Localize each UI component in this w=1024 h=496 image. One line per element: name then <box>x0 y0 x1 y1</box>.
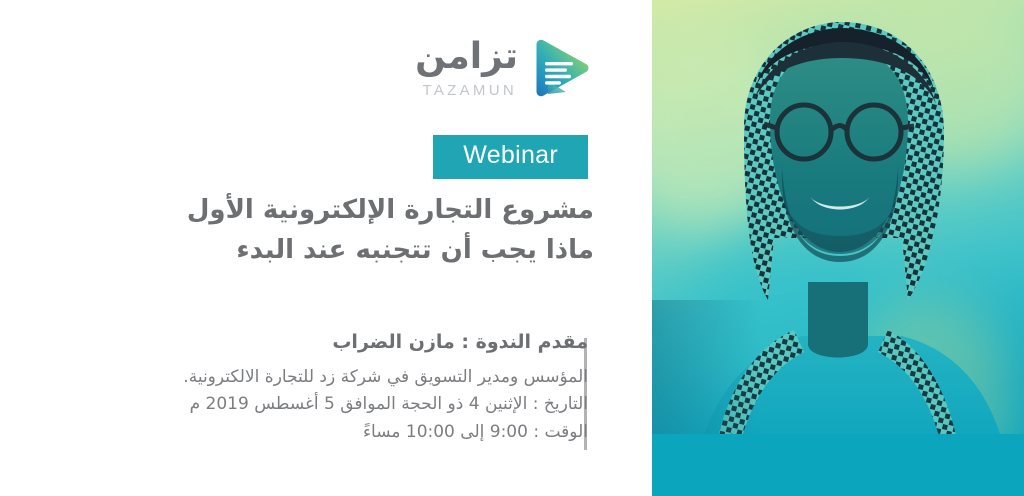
brand-logo: تزامن TAZAMUN <box>415 34 594 100</box>
webinar-poster: تزامن TAZAMUN <box>0 0 1024 496</box>
event-time: الوقت : 9:00 إلى 10:00 مساءً <box>68 419 588 447</box>
details-block: مقدم الندوة : مازن الضراب المؤسس ومدير ا… <box>68 328 588 446</box>
title-line-1: مشروع التجارة الإلكترونية الأول <box>54 190 594 230</box>
logo-latin-text: TAZAMUN <box>423 83 517 98</box>
speaker-photo <box>652 0 1024 496</box>
webinar-badge: Webinar <box>433 135 588 179</box>
event-date: التاريخ : الإثنين 4 ذو الحجة الموافق 5 أ… <box>68 391 588 419</box>
play-document-logo-icon <box>528 34 594 100</box>
speaker-figure <box>652 0 1024 496</box>
photo-bottom-band <box>652 434 1024 496</box>
speaker-name: مقدم الندوة : مازن الضراب <box>68 328 588 357</box>
logo-arabic-text: تزامن <box>415 36 518 77</box>
page-title: مشروع التجارة الإلكترونية الأول ماذا يجب… <box>54 190 594 271</box>
title-line-2: ماذا يجب أن تتجنبه عند البدء <box>54 230 594 270</box>
logo-wordmark: تزامن TAZAMUN <box>415 36 518 97</box>
content-column: تزامن TAZAMUN <box>0 0 650 496</box>
speaker-role: المؤسس ومدير التسويق في شركة زد للتجارة … <box>68 364 588 392</box>
